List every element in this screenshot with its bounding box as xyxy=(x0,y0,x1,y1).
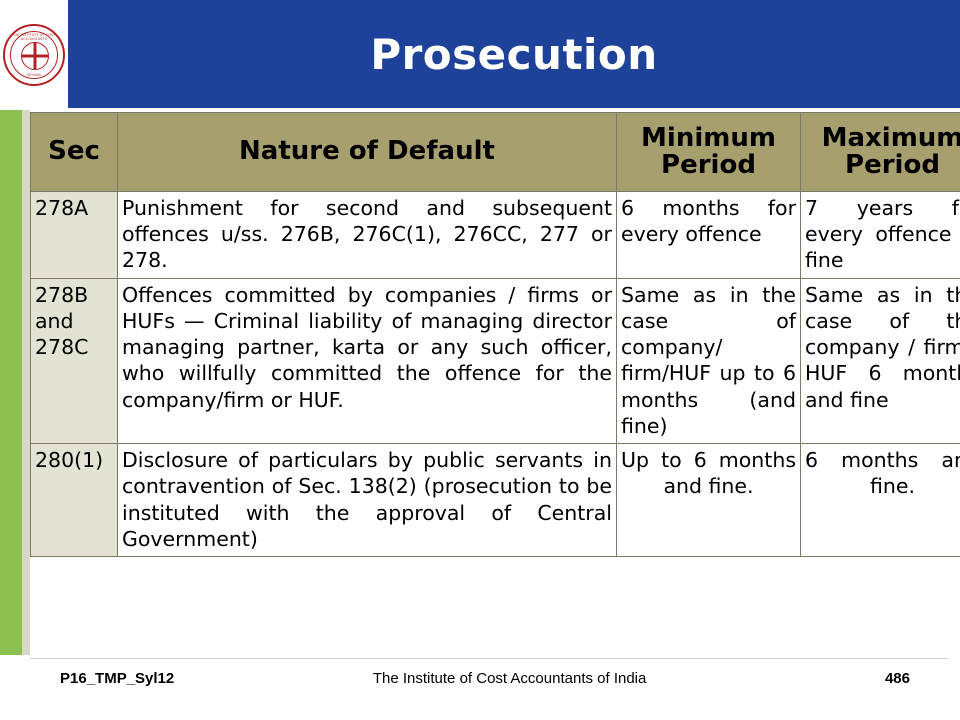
cell-minimum: 6 months for every offence xyxy=(617,192,801,279)
table-row: 280(1) Disclosure of particulars by publ… xyxy=(31,444,960,557)
cell-sec: 278B and 278C xyxy=(31,278,118,443)
table-header-row: Sec Nature of Default Minimum Period Max… xyxy=(31,113,960,192)
column-header-nature-of-default: Nature of Default xyxy=(118,113,617,192)
cell-minimum: Same as in the case of company/ firm/HUF… xyxy=(617,278,801,443)
page-title: Prosecution xyxy=(68,0,960,108)
cell-maximum: 6 months and fine. xyxy=(801,444,960,557)
column-header-maximum-period: Maximum Period xyxy=(801,113,960,192)
cell-maximum: Same as in the case of the company / fir… xyxy=(801,278,960,443)
table-body: 278A Punishment for second and subsequen… xyxy=(31,192,960,557)
table-row: 278B and 278C Offences committed by comp… xyxy=(31,278,960,443)
footer-institute-name: The Institute of Cost Accountants of Ind… xyxy=(134,670,885,687)
left-grey-accent-bar xyxy=(22,110,30,655)
slide-header: Prosecution THE INSTITUTE OF COST ACCOUN… xyxy=(0,0,960,110)
cell-nature: Disclosure of particulars by public serv… xyxy=(118,444,617,557)
left-green-accent-bar xyxy=(0,110,22,655)
cell-nature: Offences committed by companies / firms … xyxy=(118,278,617,443)
footer-divider xyxy=(30,658,948,659)
table-header: Sec Nature of Default Minimum Period Max… xyxy=(31,113,960,192)
column-header-sec: Sec xyxy=(31,113,118,192)
prosecution-table-container: Sec Nature of Default Minimum Period Max… xyxy=(30,112,948,557)
cell-sec: 278A xyxy=(31,192,118,279)
institute-seal-icon: THE INSTITUTE OF COST ACCOUNTANTS OF IND… xyxy=(3,24,65,86)
seal-text-bottom: OF INDIA xyxy=(5,73,63,77)
table-row: 278A Punishment for second and subsequen… xyxy=(31,192,960,279)
cell-maximum: 7 years for every offence & fine xyxy=(801,192,960,279)
footer-content: P16_TMP_Syl12 The Institute of Cost Acco… xyxy=(60,670,910,687)
cell-minimum: Up to 6 months and fine. xyxy=(617,444,801,557)
column-header-minimum-period: Minimum Period xyxy=(617,113,801,192)
logo-container: THE INSTITUTE OF COST ACCOUNTANTS OF IND… xyxy=(0,0,68,110)
prosecution-table: Sec Nature of Default Minimum Period Max… xyxy=(30,112,960,557)
slide-footer: P16_TMP_Syl12 The Institute of Cost Acco… xyxy=(0,658,960,720)
footer-page-number: 486 xyxy=(885,670,910,687)
cell-sec: 280(1) xyxy=(31,444,118,557)
seal-text-top: THE INSTITUTE OF COST ACCOUNTANTS xyxy=(5,33,63,41)
cell-nature: Punishment for second and subsequent off… xyxy=(118,192,617,279)
